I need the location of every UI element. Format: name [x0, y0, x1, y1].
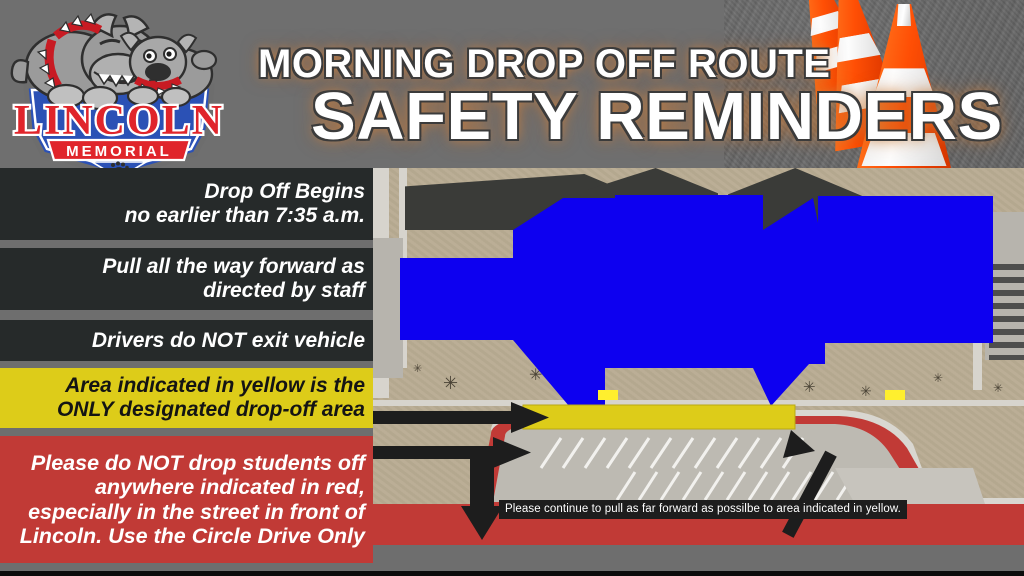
- banner-line: ONLY designated drop-off area: [57, 398, 365, 422]
- lincoln-memorial-logo: LINCOLN MEMORIAL: [8, 4, 230, 179]
- arrow-to-yellow-zone: [373, 402, 549, 433]
- banner-no-exit-vehicle: Drivers do NOT exit vehicle: [0, 320, 373, 361]
- safety-reminders-poster: MORNING DROP OFF ROUTE SAFETY REMINDERS: [0, 0, 1024, 576]
- banner-line: especially in the street in front of: [20, 500, 365, 524]
- logo-subtitle: MEMORIAL: [66, 143, 172, 160]
- map-footer-bar: [373, 545, 1024, 564]
- logo-school-name: LINCOLN: [14, 98, 224, 144]
- page-title-line2: SAFETY REMINDERS: [311, 78, 1003, 155]
- arrow-to-front-curb: [782, 430, 837, 538]
- banner-drop-off-begins: Drop Off Begins no earlier than 7:35 a.m…: [0, 168, 373, 240]
- banner-yellow-area-only: Area indicated in yellow is the ONLY des…: [0, 368, 373, 428]
- banner-line: anywhere indicated in red,: [20, 475, 365, 499]
- map-caption: Please continue to pull as far forward a…: [499, 500, 907, 519]
- aerial-route-map[interactable]: ✳ ✳ ✳ ✳ ✳ ✳ ✳: [373, 168, 1024, 564]
- banner-pull-forward: Pull all the way forward as directed by …: [0, 248, 373, 310]
- banner-line: Lincoln. Use the Circle Drive Only: [20, 524, 365, 548]
- banner-line: Please do NOT drop students off: [20, 451, 365, 475]
- banner-line: Drop Off Begins: [125, 180, 365, 204]
- footer-gray-bar: [0, 563, 1024, 571]
- banner-line: directed by staff: [102, 279, 365, 303]
- banner-line: Drivers do NOT exit vehicle: [92, 329, 365, 353]
- footer-black-bar: [0, 571, 1024, 576]
- banner-line: Pull all the way forward as: [102, 255, 365, 279]
- banner-line: Area indicated in yellow is the: [57, 374, 365, 398]
- banner-line: no earlier than 7:35 a.m.: [125, 204, 365, 228]
- arrow-to-red-street: [373, 437, 531, 468]
- banner-no-red-area: Please do NOT drop students off anywhere…: [0, 436, 373, 563]
